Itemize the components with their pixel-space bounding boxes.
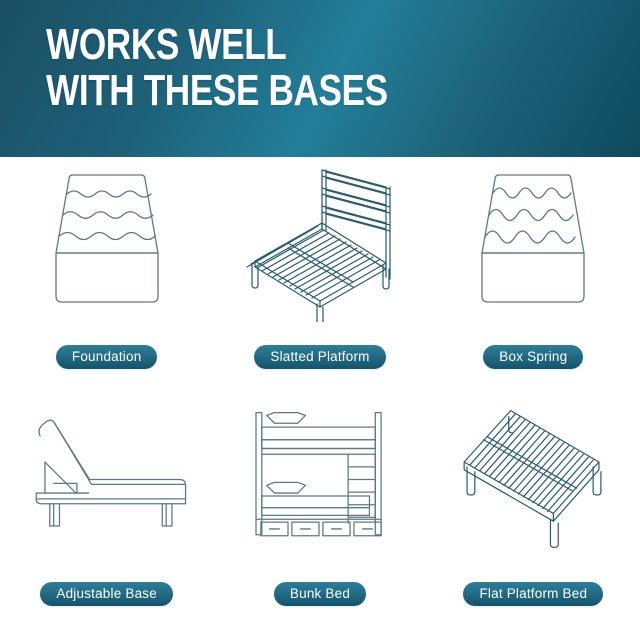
base-card-adjustable-base[interactable]: Adjustable Base (0, 399, 213, 640)
base-label-slatted-platform[interactable]: Slatted Platform (254, 345, 385, 369)
label-wrap-box-spring: Box Spring (427, 345, 640, 369)
mattress-foundation-icon (12, 157, 202, 322)
base-card-box-spring[interactable]: Box Spring (427, 157, 640, 399)
label-wrap-adjustable-base: Adjustable Base (0, 582, 213, 606)
label-wrap-bunk-bed: Bunk Bed (213, 582, 426, 606)
base-card-foundation[interactable]: Foundation (0, 157, 213, 399)
bases-grid: Foundation (0, 157, 640, 640)
label-wrap-foundation: Foundation (0, 345, 213, 369)
base-label-box-spring[interactable]: Box Spring (483, 345, 583, 369)
page-title: WORKS WELL WITH THESE BASES (46, 22, 388, 114)
base-card-slatted-platform[interactable]: Slatted Platform (213, 157, 426, 399)
slatted-platform-bed-icon (225, 157, 415, 322)
flat-platform-bed-icon (438, 399, 628, 559)
header-banner: WORKS WELL WITH THESE BASES (0, 0, 640, 157)
base-label-bunk-bed[interactable]: Bunk Bed (274, 582, 366, 606)
base-label-flat-platform-bed[interactable]: Flat Platform Bed (463, 582, 603, 606)
works-well-with-these-bases-graphic: WORKS WELL WITH THESE BASES Foundation (0, 0, 640, 640)
adjustable-base-icon (12, 399, 202, 559)
bunk-bed-icon (225, 399, 415, 559)
label-wrap-flat-platform-bed: Flat Platform Bed (427, 582, 640, 606)
base-card-flat-platform-bed[interactable]: Flat Platform Bed (427, 399, 640, 640)
box-spring-icon (438, 157, 628, 322)
label-wrap-slatted-platform: Slatted Platform (213, 345, 426, 369)
base-label-adjustable-base[interactable]: Adjustable Base (40, 582, 173, 606)
base-card-bunk-bed[interactable]: Bunk Bed (213, 399, 426, 640)
base-label-foundation[interactable]: Foundation (56, 345, 158, 369)
